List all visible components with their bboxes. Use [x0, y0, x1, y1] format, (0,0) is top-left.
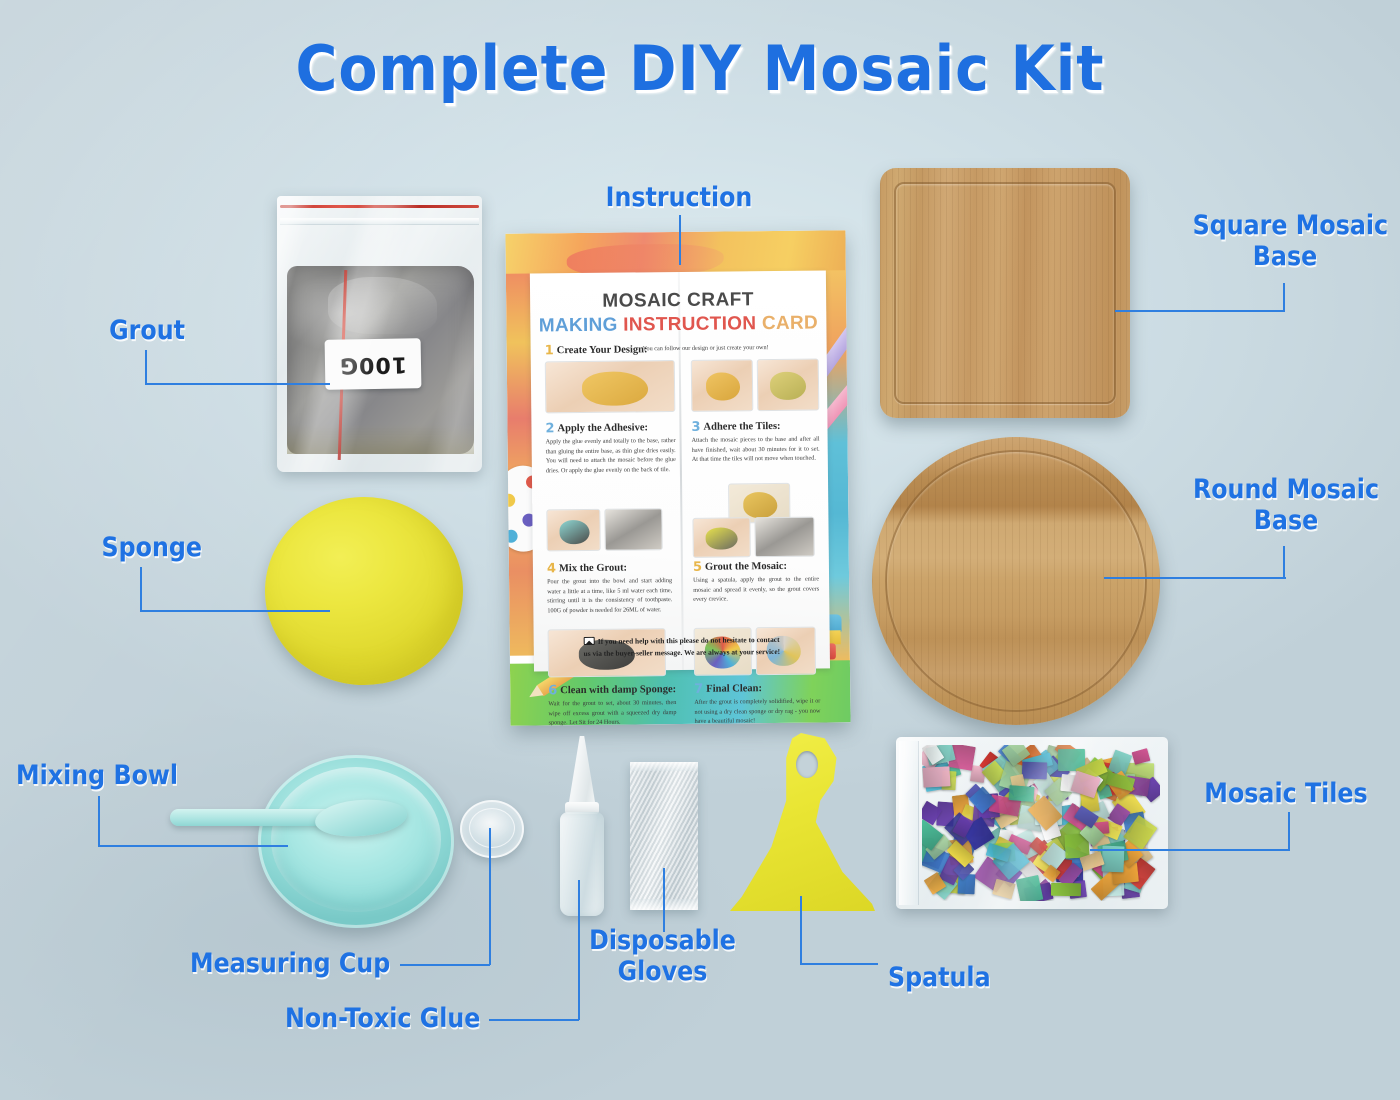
- label-sponge: Sponge: [24, 532, 202, 563]
- step-7-title: Final Clean:: [706, 683, 762, 695]
- card-heading-secondary: MAKING INSTRUCTION CARD: [530, 312, 826, 337]
- leader-grout-vertical: [145, 350, 147, 384]
- yellow-sponge: [265, 497, 463, 685]
- leader-cup-horizontal: [400, 964, 490, 966]
- step-4-number: 4: [547, 561, 556, 576]
- leader-sponge-vertical: [140, 567, 142, 611]
- step-photo: [757, 359, 820, 412]
- mixing-spoon: [170, 800, 405, 836]
- step-1-sub: You can follow our design or just create…: [643, 343, 813, 354]
- mosaic-tile: [922, 766, 950, 788]
- mosaic-tile: [1132, 748, 1151, 765]
- step-6-number: 6: [548, 683, 557, 698]
- step-4-body: Pour the grout into the bowl and start a…: [547, 576, 672, 616]
- heading-instruction: INSTRUCTION: [623, 313, 756, 335]
- step-5-body: Using a spatula, apply the grout to the …: [693, 575, 819, 605]
- bowl-rim: [258, 755, 454, 928]
- step-2-heading: 2Apply the Adhesive:: [545, 420, 648, 436]
- ziplock-seal: [280, 205, 479, 208]
- glue-bottle: [556, 736, 608, 916]
- step-photo: [546, 509, 600, 552]
- step-5-heading: 5Grout the Mosaic:: [693, 559, 787, 575]
- mosaic-tiles-bag: [896, 737, 1168, 909]
- step-7-heading: 7Final Clean:: [694, 681, 762, 697]
- spoon-handle: [170, 809, 335, 826]
- step-1-title: Create Your Design:: [557, 344, 648, 356]
- leader-grout-horizontal: [145, 383, 330, 385]
- leader-sponge-horizontal: [140, 610, 330, 612]
- grout-bag: 100G: [277, 196, 482, 472]
- label-round-line-1: Round Mosaic: [1193, 474, 1380, 505]
- step-2-title: Apply the Adhesive:: [557, 422, 648, 434]
- footer-line-1: If you need help with this please do not…: [598, 635, 780, 646]
- step-1-number: 1: [545, 343, 554, 358]
- mosaic-tile: [1022, 761, 1048, 779]
- step-2-body: Apply the glue evenly and totally to the…: [546, 436, 676, 476]
- square-base-groove: [894, 182, 1116, 404]
- step-3-body: Attach the mosaic pieces to the base and…: [692, 435, 820, 465]
- label-grout: Grout: [22, 315, 185, 346]
- step-photo: [692, 517, 750, 558]
- step-4-heading: 4Mix the Grout:: [547, 561, 627, 577]
- leader-glue-horizontal: [489, 1019, 579, 1021]
- measuring-cup-interior: [469, 808, 515, 848]
- leader-square-horizontal: [1115, 310, 1285, 312]
- step-6-title: Clean with damp Sponge:: [560, 684, 676, 696]
- step-6-heading: 6Clean with damp Sponge:: [548, 682, 676, 698]
- mosaic-tiles-pile: [922, 745, 1160, 901]
- round-base-groove: [885, 450, 1147, 712]
- leader-round-horizontal: [1104, 577, 1286, 579]
- label-mosaic-tiles: Mosaic Tiles: [1193, 778, 1380, 809]
- label-square-mosaic-base: Square Mosaic Base: [1193, 210, 1378, 272]
- leader-round-vertical: [1283, 546, 1285, 578]
- mixing-bowl: [258, 755, 454, 928]
- spoon-head: [314, 796, 409, 840]
- label-non-toxic-glue: Non-Toxic Glue: [285, 1003, 480, 1034]
- card-heading-primary: MOSAIC CRAFT: [530, 288, 826, 313]
- step-7-body: After the grout is completely solidified…: [694, 697, 820, 726]
- heading-making: MAKING: [539, 315, 618, 337]
- label-square-line-2: Base: [1193, 241, 1378, 272]
- grout-weight-sticker: 100G: [325, 338, 422, 390]
- leader-instruction-vertical: [679, 215, 681, 265]
- grout-weight-text: 100G: [339, 351, 407, 377]
- step-3-number: 3: [691, 420, 700, 435]
- ziplock-strip: [899, 741, 919, 905]
- step-1-heading: 1Create Your Design:: [545, 342, 648, 358]
- label-square-line-1: Square Mosaic: [1193, 210, 1378, 241]
- step-7-number: 7: [694, 682, 703, 697]
- page-title: Complete DIY Mosaic Kit: [56, 32, 1344, 105]
- step-photo: [754, 517, 814, 558]
- leader-cup-vertical: [489, 828, 491, 965]
- instruction-card: MOSAIC CRAFT MAKING INSTRUCTION CARD 1Cr…: [505, 230, 850, 726]
- step-5-title: Grout the Mosaic:: [705, 561, 787, 573]
- leader-spatula-horizontal: [800, 963, 878, 965]
- step-photo: [604, 508, 662, 551]
- footer-line-2: us via the buyer-seller message. We are …: [584, 647, 781, 658]
- ziplock-track: [280, 218, 479, 225]
- mail-icon: [584, 637, 595, 645]
- step-4-title: Mix the Grout:: [559, 563, 627, 575]
- step-photo: [691, 359, 754, 412]
- measuring-cup: [460, 800, 524, 858]
- leader-bowl-horizontal: [98, 845, 288, 847]
- label-gloves-line-1: Disposable: [572, 925, 752, 956]
- step-2-number: 2: [545, 421, 554, 436]
- instruction-sheet: MOSAIC CRAFT MAKING INSTRUCTION CARD 1Cr…: [530, 270, 830, 671]
- label-gloves-line-2: Gloves: [572, 956, 752, 987]
- step-3-heading: 3Adhere the Tiles:: [691, 419, 780, 435]
- step-3-title: Adhere the Tiles:: [703, 421, 780, 433]
- mosaic-tile: [1009, 785, 1035, 802]
- leader-tiles-horizontal: [1090, 849, 1290, 851]
- square-mosaic-base: [880, 168, 1130, 418]
- glue-bottle-cap: [568, 736, 596, 808]
- yellow-spatula: [727, 733, 875, 911]
- mosaic-tile: [1051, 883, 1081, 896]
- step-photo: [545, 360, 676, 413]
- spatula-hang-hole: [796, 751, 818, 778]
- leader-spatula-vertical: [800, 896, 802, 964]
- leader-tiles-vertical: [1288, 812, 1290, 850]
- leader-square-vertical: [1283, 283, 1285, 311]
- label-mixing-bowl: Mixing Bowl: [16, 760, 178, 791]
- step-6-body: Wait for the grout to set, about 30 minu…: [548, 698, 676, 726]
- heading-card: CARD: [762, 313, 818, 335]
- step-5-number: 5: [693, 560, 702, 575]
- label-spatula: Spatula: [888, 962, 991, 993]
- label-round-mosaic-base: Round Mosaic Base: [1193, 474, 1380, 536]
- label-measuring-cup: Measuring Cup: [190, 948, 390, 979]
- glue-bottle-body: [560, 812, 604, 916]
- label-instruction: Instruction: [587, 182, 772, 213]
- round-mosaic-base: [872, 437, 1160, 725]
- label-round-line-2: Base: [1193, 505, 1380, 536]
- leader-bowl-vertical: [98, 796, 100, 846]
- card-footer-note: If you need help with this please do not…: [546, 633, 818, 661]
- label-disposable-gloves: Disposable Gloves: [572, 925, 752, 987]
- leader-gloves-vertical: [663, 868, 665, 932]
